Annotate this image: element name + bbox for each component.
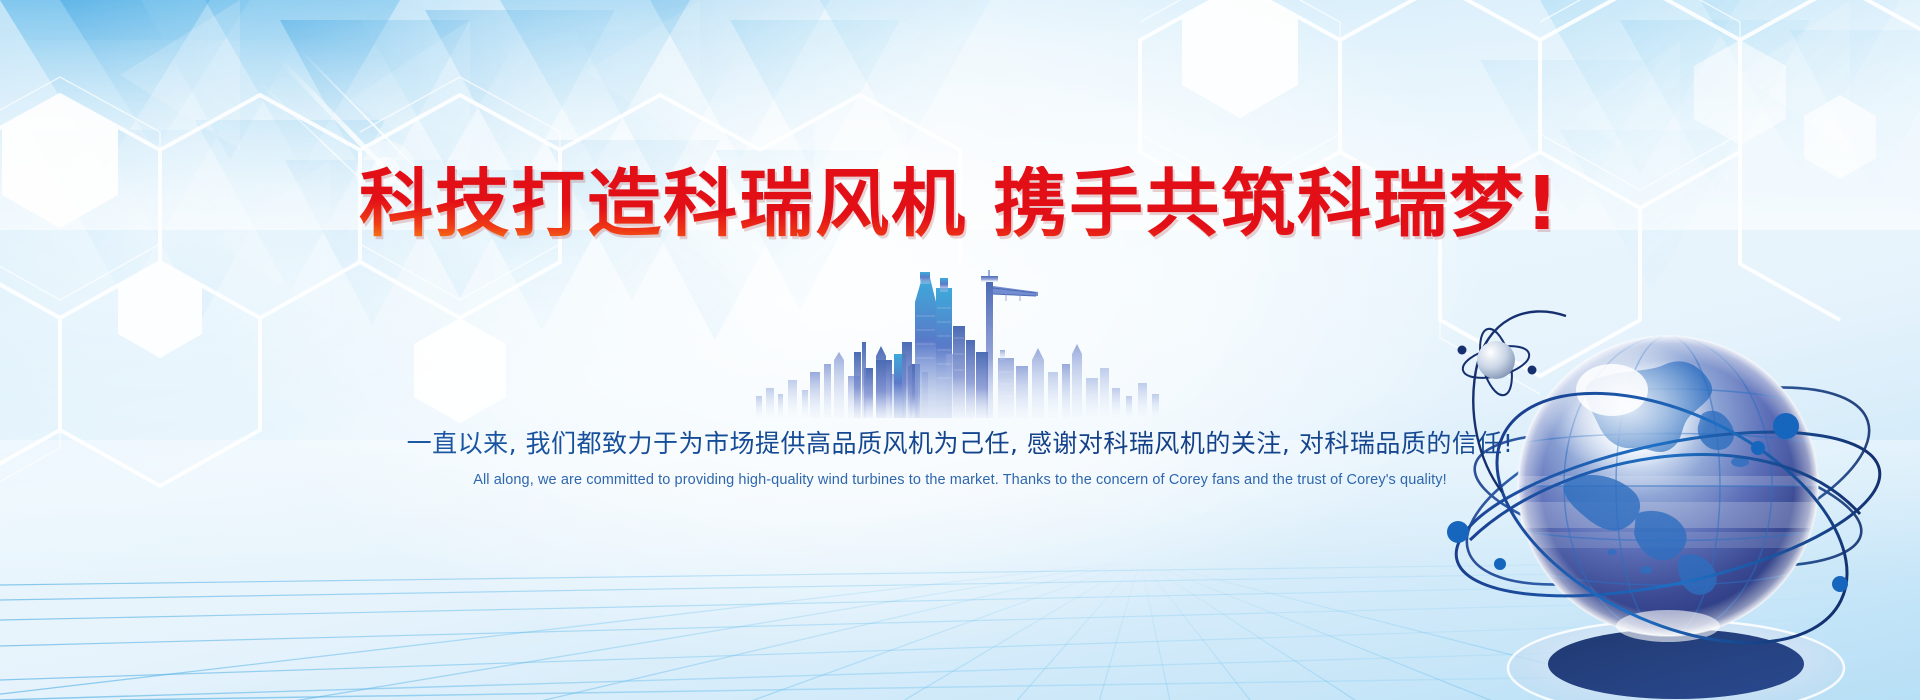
headline-container: 科技打造科瑞风机携手共筑科瑞梦!: [0, 116, 1920, 293]
hero-banner: 科技打造科瑞风机携手共筑科瑞梦!: [0, 0, 1920, 700]
subtitle-chinese: 一直以来, 我们都致力于为市场提供高品质风机为己任, 感谢对科瑞风机的关注, 对…: [0, 424, 1920, 460]
city-skyline-graphic: [750, 268, 1170, 418]
headline-part-1: 科技打造科瑞风机: [359, 161, 967, 247]
subtitle-container: 一直以来, 我们都致力于为市场提供高品质风机为己任, 感谢对科瑞风机的关注, 对…: [0, 424, 1920, 488]
page-title: 科技打造科瑞风机携手共筑科瑞梦!: [359, 166, 1561, 244]
headline-part-2: 携手共筑科瑞梦!: [993, 161, 1561, 247]
subtitle-english: All along, we are committed to providing…: [0, 472, 1920, 488]
